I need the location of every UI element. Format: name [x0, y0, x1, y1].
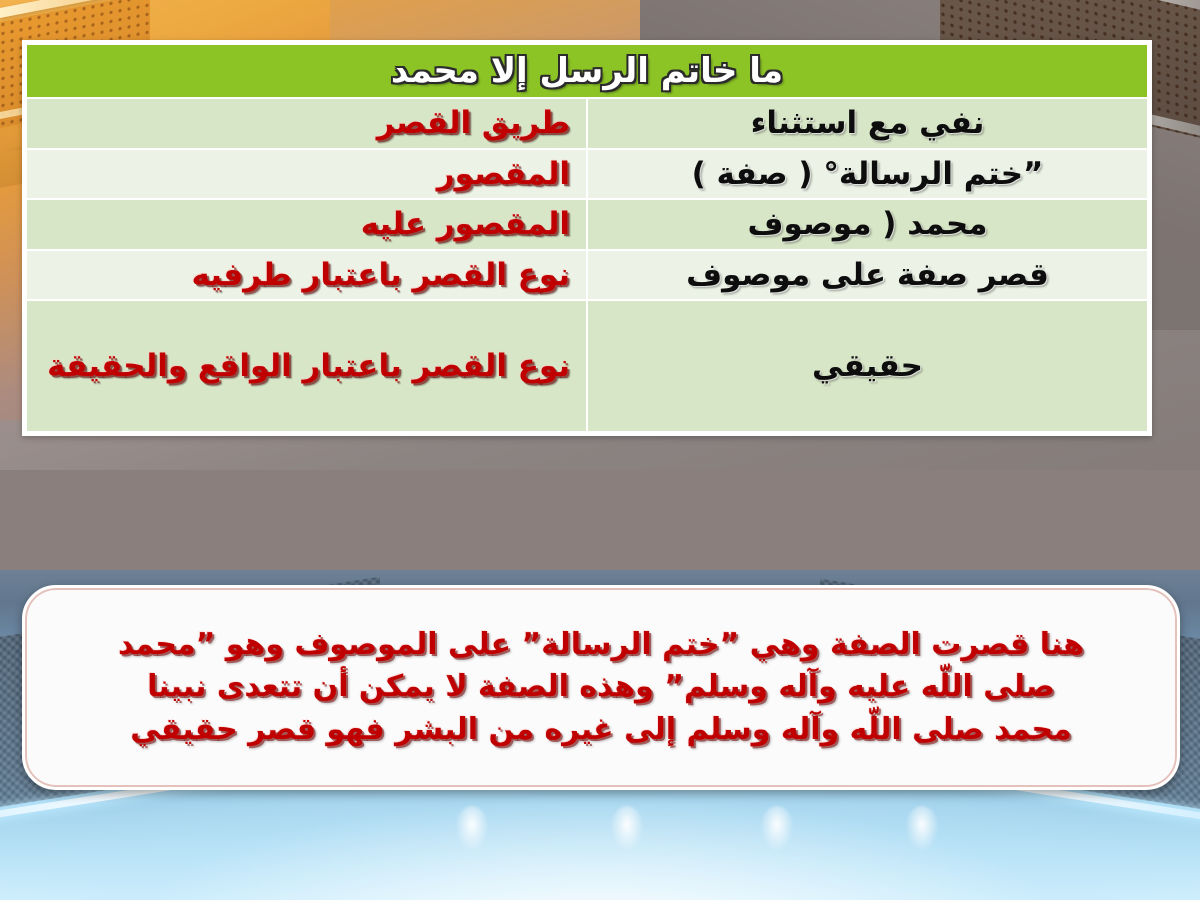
concept-table: ما خاتم الرسل إلا محمد نفي مع استثناء طر… — [22, 40, 1152, 436]
table-row: نفي مع استثناء طريق القصر — [26, 98, 1148, 149]
table-cell-label: نوع القصر باعتبار طرفيه — [26, 250, 587, 301]
table-cell-value: نفي مع استثناء — [587, 98, 1148, 149]
explanation-box: هنا قصرت الصفة وهي ”ختم الرسالة” على الم… — [22, 585, 1180, 790]
explanation-line: محمد صلى اللّه وآله وسلم إلى غيره من الب… — [118, 709, 1084, 752]
table-cell-value: ”ختم الرسالة° ( صفة ) — [587, 149, 1148, 200]
table-header-row: ما خاتم الرسل إلا محمد — [26, 44, 1148, 98]
table-cell-label: المقصور عليه — [26, 199, 587, 250]
table-cell-value: قصر صفة على موصوف — [587, 250, 1148, 301]
explanation-text: هنا قصرت الصفة وهي ”ختم الرسالة” على الم… — [118, 624, 1084, 752]
table-cell-label: نوع القصر باعتبار الواقع والحقيقة — [26, 300, 587, 432]
table-row: حقيقي نوع القصر باعتبار الواقع والحقيقة — [26, 300, 1148, 432]
table-cell-value: حقيقي — [587, 300, 1148, 432]
table-cell-value: محمد ( موصوف — [587, 199, 1148, 250]
explanation-line: صلى اللّه عليه وآله وسلم” وهذه الصفة لا … — [118, 666, 1084, 709]
table-row: محمد ( موصوف المقصور عليه — [26, 199, 1148, 250]
table-header: ما خاتم الرسل إلا محمد — [26, 44, 1148, 98]
slide-content: ما خاتم الرسل إلا محمد نفي مع استثناء طر… — [0, 0, 1200, 900]
table-cell-label: طريق القصر — [26, 98, 587, 149]
table: ما خاتم الرسل إلا محمد نفي مع استثناء طر… — [25, 43, 1149, 433]
table-cell-label: المقصور — [26, 149, 587, 200]
table-row: قصر صفة على موصوف نوع القصر باعتبار طرفي… — [26, 250, 1148, 301]
table-row: ”ختم الرسالة° ( صفة ) المقصور — [26, 149, 1148, 200]
explanation-line: هنا قصرت الصفة وهي ”ختم الرسالة” على الم… — [118, 624, 1084, 667]
table-body: نفي مع استثناء طريق القصر ”ختم الرسالة° … — [26, 98, 1148, 432]
page-title: ما خاتم الرسل إلا محمد — [26, 44, 1148, 98]
